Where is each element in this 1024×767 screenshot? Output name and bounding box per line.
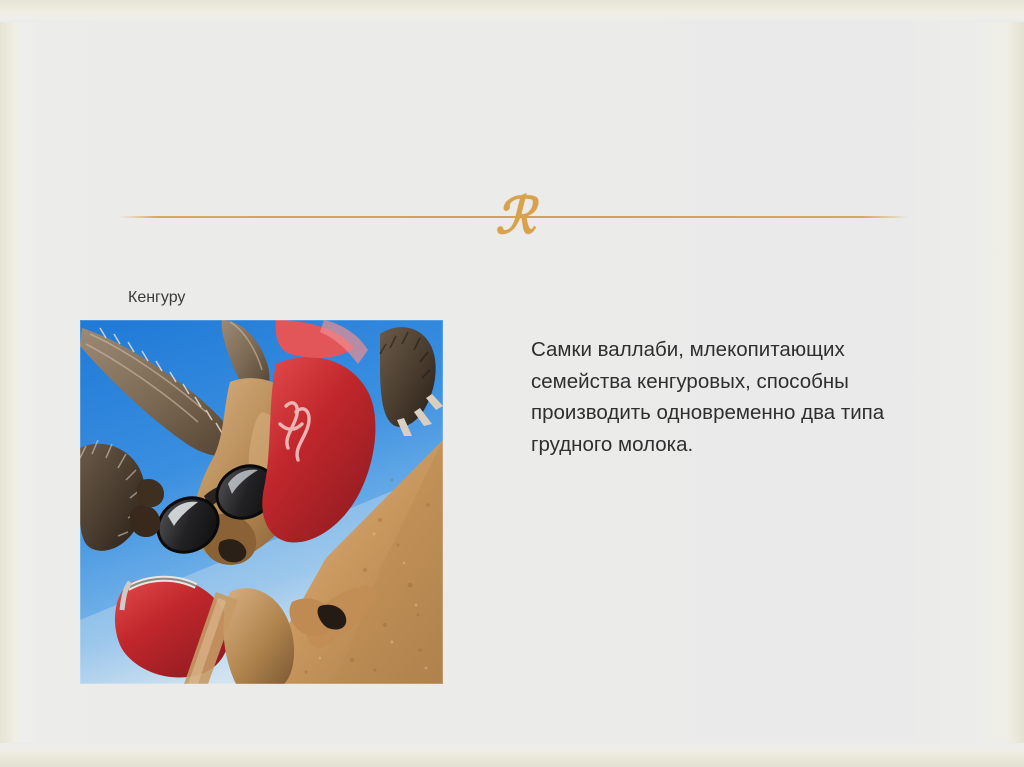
- slide-border-right: [998, 0, 1024, 767]
- picture-caption: Кенгуру: [128, 288, 185, 308]
- kangaroo-picture-graphic: [80, 320, 443, 684]
- slide-border-left: [0, 0, 24, 767]
- slide-border-top: [0, 0, 1024, 22]
- flourish-ornament-icon: ℛ: [496, 191, 531, 241]
- presentation-slide: ℛ Кенгуру: [0, 0, 1024, 767]
- slide-body-text: Самки валлаби, млекопитающих семейства к…: [531, 334, 933, 460]
- kangaroo-picture: [80, 320, 443, 684]
- ornament-divider: ℛ: [118, 188, 908, 244]
- slide-border-bottom: [0, 743, 1024, 767]
